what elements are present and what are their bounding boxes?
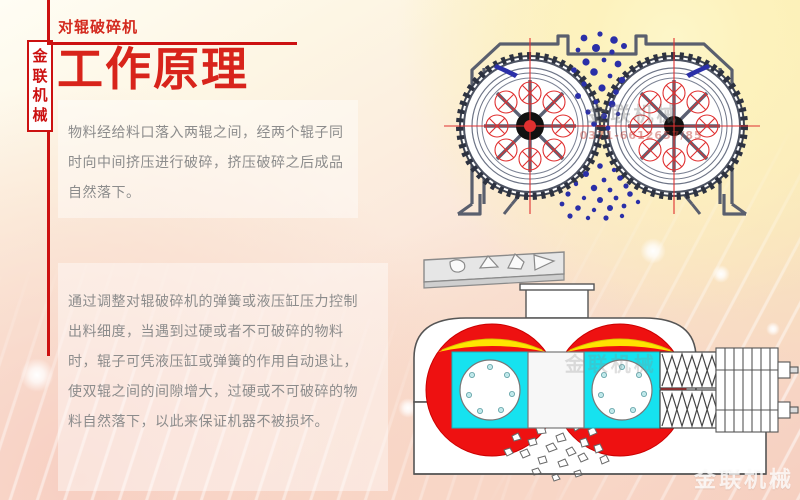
paragraph-principle-adjustment: 通过调整对辊破碎机的弹簧或液压缸压力控制出料细度，当遇到过硬或者不可破碎的物料时… (68, 287, 368, 437)
logo-char-2: 联 (32, 69, 47, 84)
bearing-block-left (452, 352, 528, 428)
feed-chute (424, 252, 564, 288)
working-diagram-svg (408, 240, 800, 492)
logo-char-4: 械 (32, 108, 47, 123)
adjustment-bolts (778, 362, 798, 418)
bearing-block-right (584, 352, 660, 428)
spring-assembly (660, 352, 722, 428)
company-logo: 金 联 机 械 (27, 40, 53, 132)
spring-frame (716, 348, 778, 432)
hopper-neck (520, 284, 594, 318)
bearing-bridge (528, 352, 584, 428)
figure-roller-crusher-working: 金联机械 (408, 240, 800, 492)
poster-canvas: 金 联 机 械 对辊破碎机 工作原理 物料经给料口落入两辊之间，经两个辊子同时向… (0, 0, 800, 500)
logo-char-3: 机 (32, 88, 47, 103)
cross-section-svg (408, 8, 798, 232)
logo-char-1: 金 (32, 49, 47, 64)
figure-roller-crusher-cross-section: 金联机械 0371-6612657/85 (408, 8, 798, 232)
paragraph-principle-feeding: 物料经给料口落入两辊之间，经两个辊子同时向中间挤压进行破碎，挤压破碎之后成品自然… (68, 118, 354, 208)
page-title: 工作原理 (57, 46, 249, 92)
page-subtitle: 对辊破碎机 (58, 16, 138, 37)
